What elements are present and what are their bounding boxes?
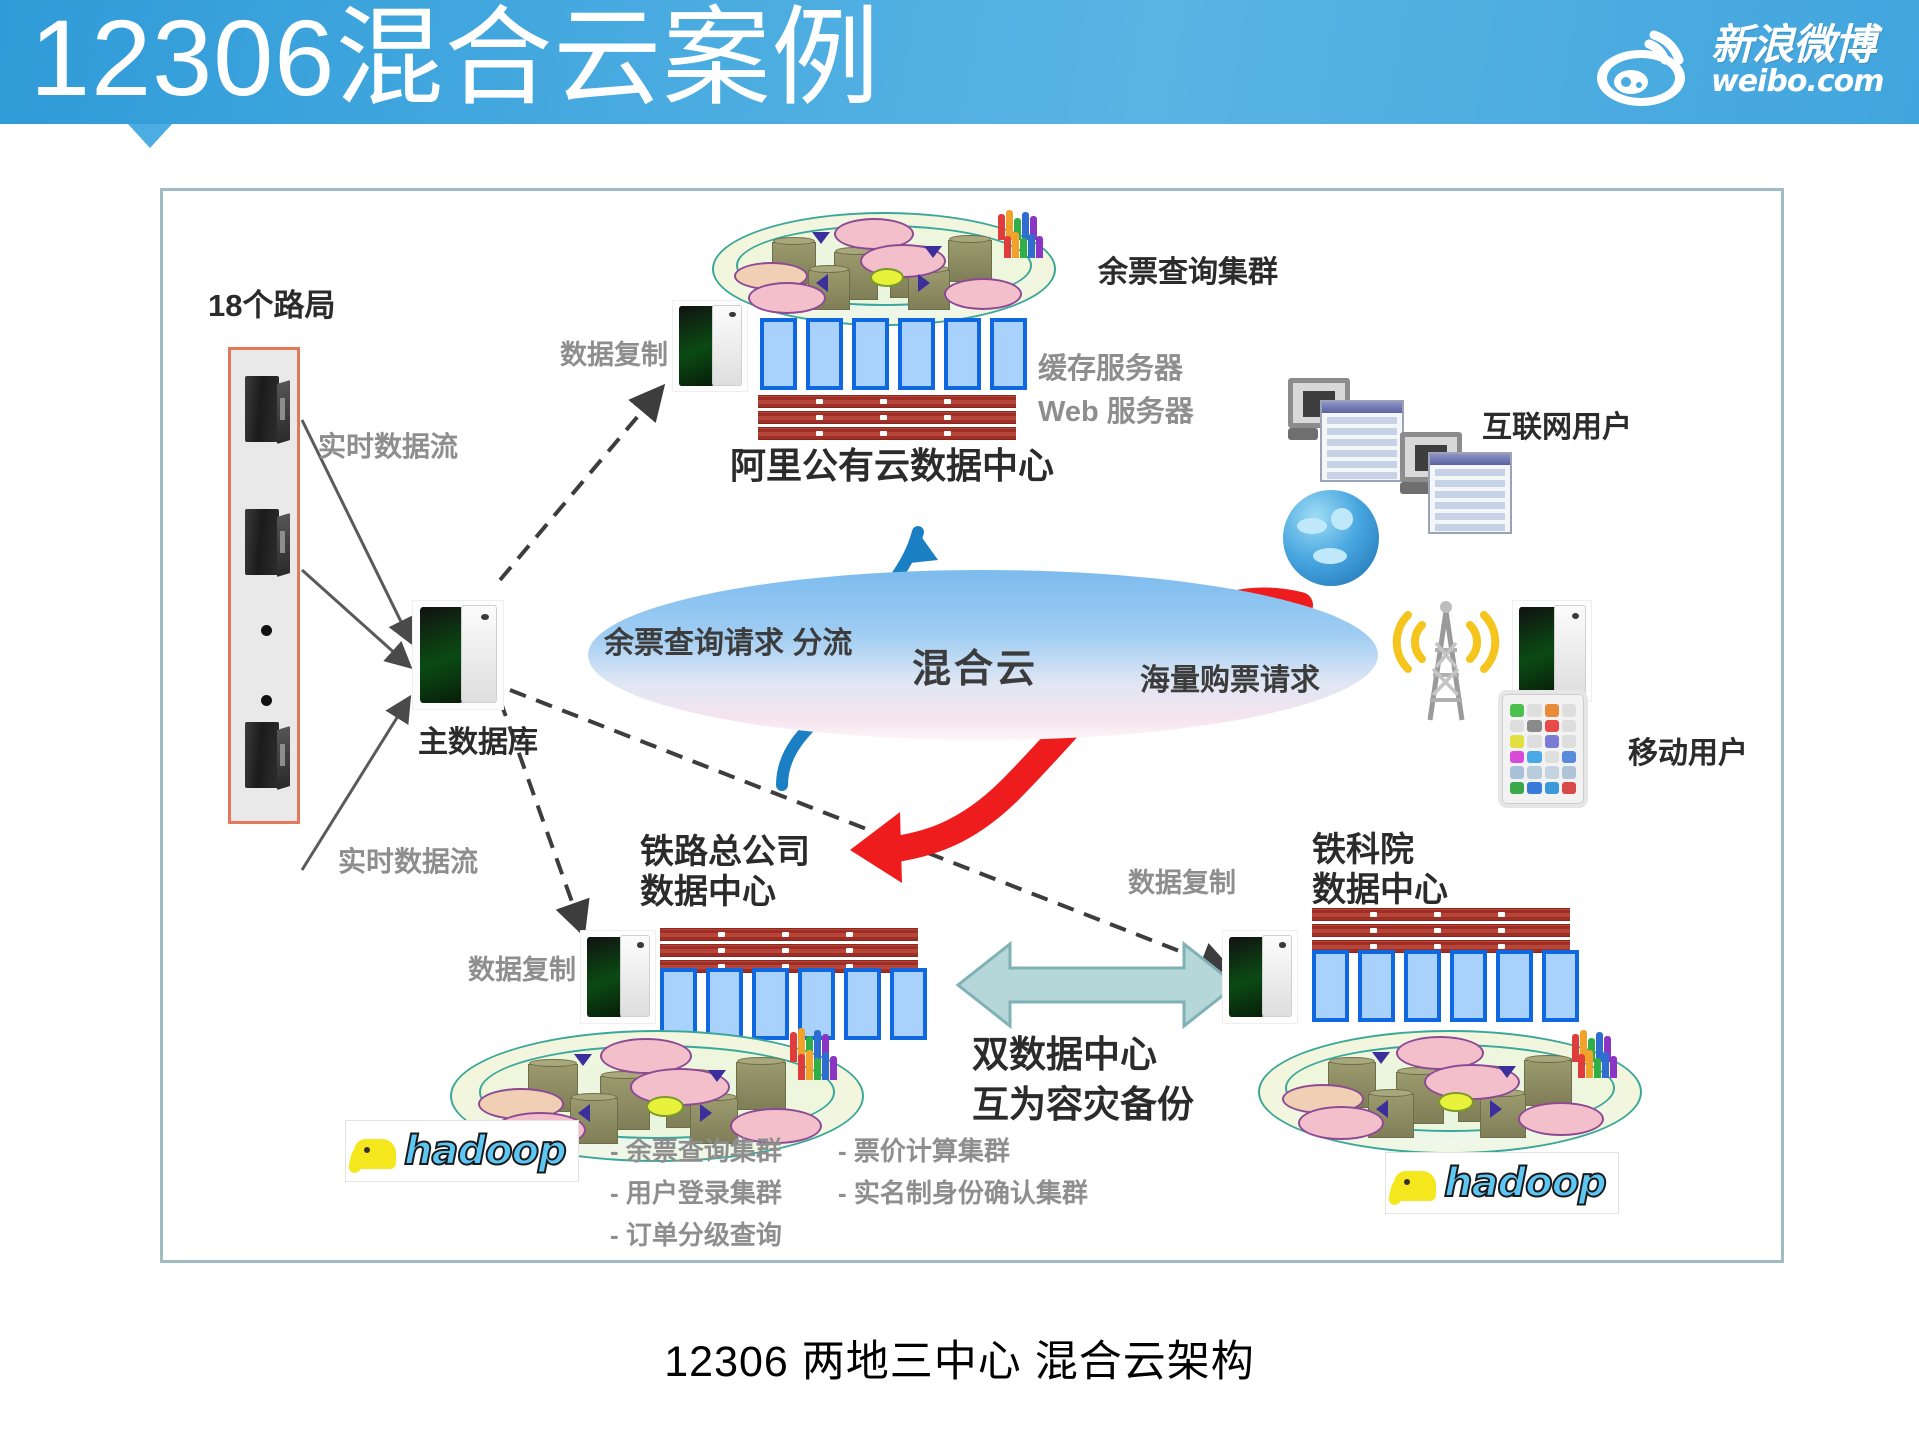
cluster-users-icon — [798, 1046, 838, 1080]
hadoop-logo-right: hadoop — [1385, 1152, 1619, 1214]
server-icon — [239, 718, 295, 792]
hadoop-elephant-icon — [1390, 1161, 1442, 1205]
bureaus-label: 18个路局 — [208, 288, 335, 325]
hybrid-center-text: 混合云 — [912, 638, 1038, 694]
bureaus-box — [228, 347, 300, 824]
public-cloud-title: 阿里公有云数据中心 — [730, 445, 1054, 487]
public-cloud-web-label: Web 服务器 — [1038, 395, 1194, 429]
ellipsis-dot — [261, 695, 272, 706]
public-cloud-cluster-label: 余票查询集群 — [1098, 255, 1278, 290]
hadoop-logo-left: hadoop — [345, 1120, 579, 1182]
public-cloud-cache-row — [760, 318, 1027, 390]
academy-dc-cache-row — [1312, 950, 1579, 1022]
academy-dc-web-row — [1312, 908, 1570, 953]
hadoop-wordmark: hadoop — [404, 1128, 566, 1174]
public-cloud-cache-label: 缓存服务器 — [1038, 352, 1183, 386]
main-database-icon — [412, 600, 504, 710]
railway-dc-db-icon — [580, 930, 656, 1024]
weibo-logo-text: 新浪微博 weibo.com — [1711, 22, 1895, 98]
weibo-logo-en: weibo.com — [1711, 66, 1895, 98]
hadoop-elephant-icon — [350, 1129, 402, 1173]
academy-dc-db-icon — [1222, 930, 1298, 1024]
list-item: 票价计算集群 — [838, 1130, 1088, 1172]
ellipsis-dot — [261, 625, 272, 636]
railway-dc-web-row — [660, 928, 918, 973]
hadoop-wordmark: hadoop — [1444, 1160, 1606, 1206]
cell-tower-icon — [1378, 595, 1498, 725]
globe-icon — [1283, 490, 1379, 586]
browser-window-icon — [1428, 452, 1512, 534]
tablet-icon — [1498, 690, 1588, 808]
page-header: 12306混合云案例 新浪微博 weibo.com — [0, 0, 1919, 124]
cluster-list-left: 余票查询集群 用户登录集群 订单分级查询 — [610, 1130, 782, 1256]
figure-caption: 12306 两地三中心 混合云架构 — [0, 1327, 1919, 1389]
dual-dc-text: 双数据中心 互为容灾备份 — [972, 1030, 1194, 1130]
main-database-label: 主数据库 — [418, 725, 538, 760]
replicate-bottom-right-label: 数据复制 — [1128, 868, 1236, 900]
academy-dc-cluster-illustration — [1258, 1030, 1638, 1150]
cluster-users-icon — [1004, 228, 1044, 258]
cluster-list-right: 票价计算集群 实名制身份确认集群 — [838, 1130, 1088, 1214]
page-title: 12306混合云案例 — [30, 0, 880, 120]
header-notch — [128, 124, 172, 148]
mobile-users-label: 移动用户 — [1628, 736, 1748, 771]
hybrid-right-text: 海量购票请求 — [1140, 655, 1320, 699]
public-cloud-web-row — [758, 395, 1016, 440]
internet-users-label: 互联网用户 — [1482, 410, 1632, 445]
weibo-logo: 新浪微博 weibo.com — [1595, 14, 1895, 114]
weibo-eye-icon — [1595, 30, 1705, 108]
realtime-flow-bottom-label: 实时数据流 — [338, 845, 478, 878]
server-icon — [239, 372, 295, 446]
replicate-top-label: 数据复制 — [560, 340, 668, 372]
server-icon — [239, 505, 295, 579]
replicate-bottom-left-label: 数据复制 — [468, 955, 576, 987]
query-cluster-illustration — [712, 212, 1052, 322]
realtime-flow-top-label: 实时数据流 — [318, 430, 458, 463]
hybrid-left-text: 余票查询请求 分流 — [604, 628, 852, 659]
browser-window-icon — [1320, 400, 1404, 482]
list-item: 实名制身份确认集群 — [838, 1172, 1088, 1214]
academy-dc-title: 铁科院 数据中心 — [1312, 830, 1448, 910]
smartphone-icon — [1512, 600, 1592, 702]
list-item: 订单分级查询 — [610, 1214, 782, 1256]
railway-dc-title: 铁路总公司 数据中心 — [640, 832, 810, 912]
dual-dc-double-arrow — [952, 930, 1242, 1040]
list-item: 用户登录集群 — [610, 1172, 782, 1214]
weibo-logo-cn: 新浪微博 — [1711, 22, 1895, 68]
cluster-users-icon — [1578, 1046, 1618, 1078]
list-item: 余票查询集群 — [610, 1130, 782, 1172]
